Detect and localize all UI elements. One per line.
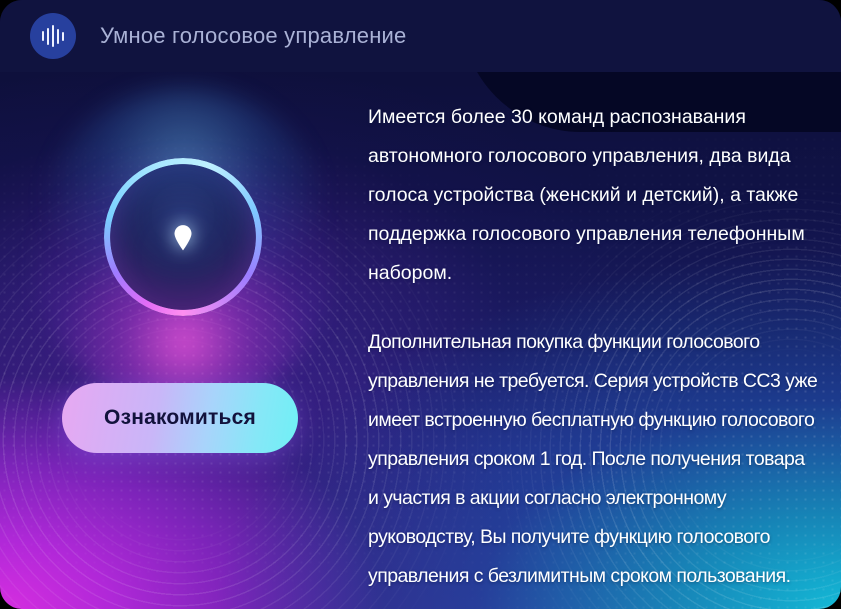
learn-more-button[interactable]: Ознакомиться bbox=[62, 383, 298, 453]
voice-waveform-icon bbox=[30, 13, 76, 59]
location-pin-icon bbox=[168, 221, 198, 251]
paragraph-2: Дополнительная покупка функции голосовог… bbox=[368, 323, 818, 596]
paragraph-1: Имеется более 30 команд распознавания ав… bbox=[368, 98, 818, 293]
waveform-bars bbox=[42, 25, 65, 47]
description-text-block: Имеется более 30 команд распознавания ав… bbox=[368, 98, 818, 596]
header-content: Умное голосовое управление bbox=[0, 0, 406, 72]
voice-control-promo-card: Умное голосовое управление Ознакомиться … bbox=[0, 0, 841, 609]
voice-assistant-orb bbox=[104, 158, 262, 316]
page-title: Умное голосовое управление bbox=[100, 23, 406, 49]
learn-more-button-label: Ознакомиться bbox=[104, 406, 256, 430]
